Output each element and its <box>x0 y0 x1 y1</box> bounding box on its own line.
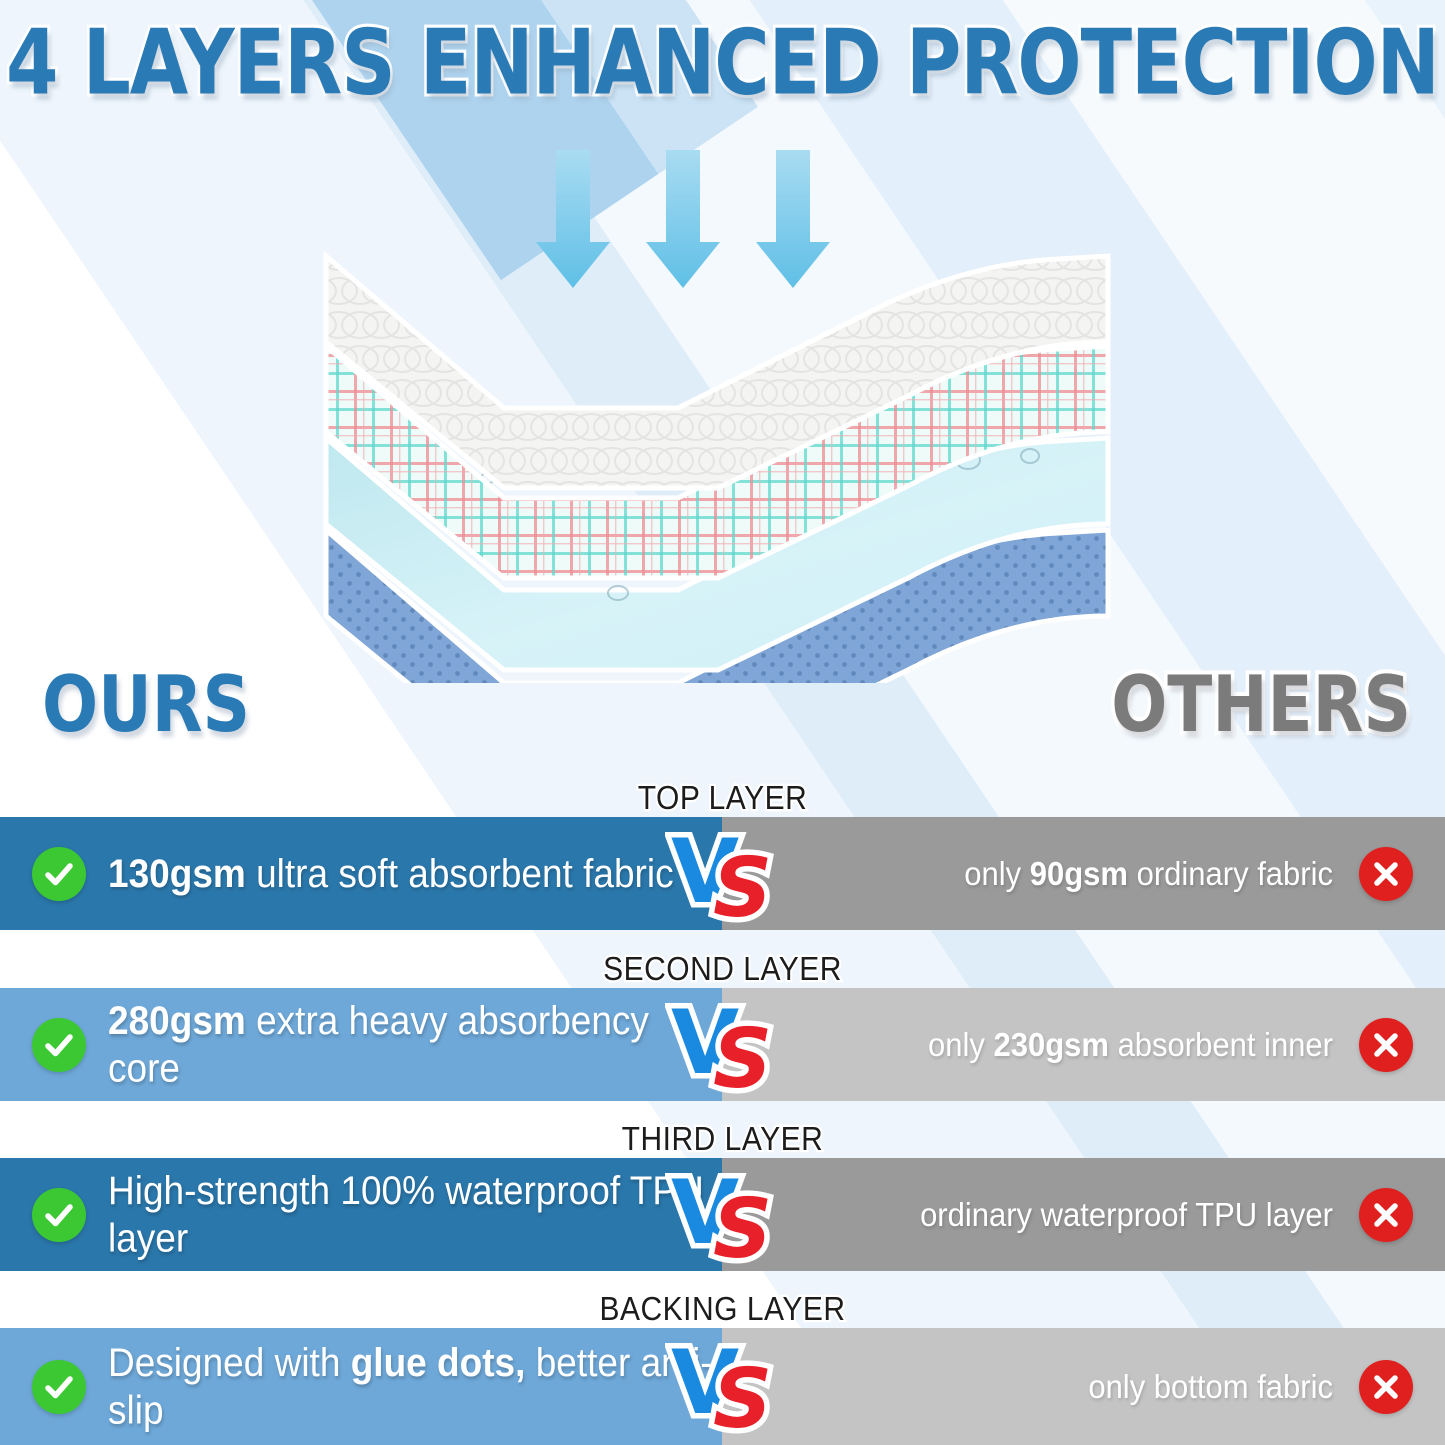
ours-cell: Designed with glue dots, better anti-sli… <box>0 1328 722 1445</box>
ours-feature-rest: ultra soft absorbent fabric <box>246 851 674 895</box>
headline-banner: 4 LAYERS ENHANCED PROTECTION <box>0 14 1445 112</box>
ours-feature-rest: High-strength 100% waterproof TPU layer <box>108 1168 704 1259</box>
ours-feature-bold: 130gsm <box>108 851 246 895</box>
others-feature-rest: only bottom fabric <box>1088 1367 1333 1405</box>
layer-label-second: SECOND LAYER <box>0 951 1445 989</box>
others-feature-bold: 90gsm <box>1030 854 1128 892</box>
ours-cell: 280gsm extra heavy absorbency core <box>0 988 722 1101</box>
others-feature-bold: 230gsm <box>993 1025 1108 1063</box>
ours-cell: High-strength 100% waterproof TPU layer <box>0 1158 722 1271</box>
others-feature-text: only 90gsm ordinary fabric <box>964 853 1333 893</box>
check-icon <box>32 1188 86 1242</box>
ours-cell: 130gsm ultra soft absorbent fabric <box>0 817 722 930</box>
absorption-arrows-down <box>536 150 830 288</box>
others-cell: only 230gsm absorbent inner <box>722 988 1445 1101</box>
cross-icon <box>1359 1360 1413 1414</box>
infographic-page: 4 LAYERS ENHANCED PROTECTION <box>0 0 1445 1445</box>
ours-feature-text: Designed with glue dots, better anti-sli… <box>108 1339 722 1433</box>
ours-feature-text: High-strength 100% waterproof TPU layer <box>108 1167 722 1261</box>
others-cell: ordinary waterproof TPU layer <box>722 1158 1445 1271</box>
four-layer-illustration <box>318 138 1118 683</box>
comparison-row-second-layer: 280gsm extra heavy absorbency core only … <box>0 988 1445 1101</box>
page-title: 4 LAYERS ENHANCED PROTECTION <box>6 11 1439 116</box>
ours-feature-pre: Designed with <box>108 1340 351 1384</box>
layer-label-backing: BACKING LAYER <box>0 1291 1445 1329</box>
cross-icon <box>1359 1188 1413 1242</box>
cross-icon <box>1359 1018 1413 1072</box>
ours-feature-bold: glue dots, <box>351 1340 526 1384</box>
others-feature-pre: only <box>964 854 1029 892</box>
ours-feature-text: 130gsm ultra soft absorbent fabric <box>108 850 674 897</box>
check-icon <box>32 1018 86 1072</box>
others-feature-pre: only <box>928 1025 993 1063</box>
layer-label-third: THIRD LAYER <box>0 1121 1445 1159</box>
others-feature-rest: ordinary waterproof TPU layer <box>920 1195 1333 1233</box>
others-heading: OTHERS <box>1111 666 1411 744</box>
others-cell: only 90gsm ordinary fabric <box>722 817 1445 930</box>
others-feature-rest: ordinary fabric <box>1128 854 1333 892</box>
others-feature-text: ordinary waterproof TPU layer <box>920 1194 1333 1234</box>
others-cell: only bottom fabric <box>722 1328 1445 1445</box>
comparison-row-backing-layer: Designed with glue dots, better anti-sli… <box>0 1328 1445 1445</box>
check-icon <box>32 1360 86 1414</box>
others-feature-text: only 230gsm absorbent inner <box>928 1024 1333 1064</box>
ours-heading: OURS <box>42 666 250 744</box>
others-feature-text: only bottom fabric <box>1088 1366 1333 1406</box>
check-icon <box>32 847 86 901</box>
ours-feature-bold: 280gsm <box>108 998 246 1042</box>
layer-label-top: TOP LAYER <box>0 780 1445 818</box>
comparison-row-top-layer: 130gsm ultra soft absorbent fabric only … <box>0 817 1445 930</box>
others-feature-rest: absorbent inner <box>1109 1025 1333 1063</box>
comparison-row-third-layer: High-strength 100% waterproof TPU layer … <box>0 1158 1445 1271</box>
cross-icon <box>1359 847 1413 901</box>
ours-feature-text: 280gsm extra heavy absorbency core <box>108 997 722 1091</box>
